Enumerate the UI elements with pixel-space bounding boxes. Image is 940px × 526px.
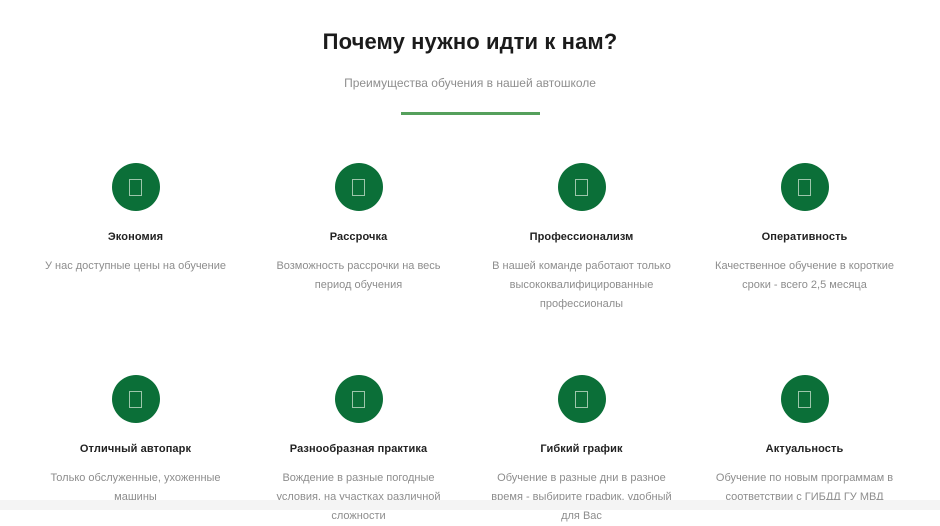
card-title: Экономия bbox=[38, 211, 233, 244]
card-icon-wrap bbox=[484, 163, 679, 211]
card-text: Вождение в разные погодные условия, на у… bbox=[261, 456, 456, 526]
page-title: Почему нужно идти к нам? bbox=[0, 28, 940, 56]
card-icon-wrap bbox=[484, 375, 679, 423]
advantage-card: Рассрочка Возможность рассрочки на весь … bbox=[247, 163, 470, 314]
section-header: Почему нужно идти к нам? Преимущества об… bbox=[0, 28, 940, 115]
card-icon-wrap bbox=[707, 163, 902, 211]
missing-glyph-box-icon bbox=[129, 391, 142, 408]
advantages-grid: Экономия У нас доступные цены на обучени… bbox=[0, 163, 940, 526]
icon-circle bbox=[112, 163, 160, 211]
missing-glyph-box-icon bbox=[798, 179, 811, 196]
card-icon-wrap bbox=[38, 163, 233, 211]
card-icon-wrap bbox=[38, 375, 233, 423]
advantage-card: Профессионализм В нашей команде работают… bbox=[470, 163, 693, 314]
icon-circle bbox=[335, 163, 383, 211]
missing-glyph-box-icon bbox=[575, 391, 588, 408]
card-title: Актуальность bbox=[707, 423, 902, 456]
card-icon-wrap bbox=[261, 163, 456, 211]
title-divider bbox=[401, 112, 540, 115]
card-text: Обучение в разные дни в разное время - в… bbox=[484, 456, 679, 526]
card-title: Рассрочка bbox=[261, 211, 456, 244]
icon-circle bbox=[781, 163, 829, 211]
section-subtitle: Преимущества обучения в нашей автошколе bbox=[0, 56, 940, 91]
missing-glyph-box-icon bbox=[352, 391, 365, 408]
card-icon-wrap bbox=[261, 375, 456, 423]
missing-glyph-box-icon bbox=[798, 391, 811, 408]
card-text: В нашей команде работают только высококв… bbox=[484, 244, 679, 314]
icon-circle bbox=[112, 375, 160, 423]
icon-circle bbox=[558, 163, 606, 211]
icon-circle bbox=[335, 375, 383, 423]
icon-circle bbox=[558, 375, 606, 423]
card-text: У нас доступные цены на обучение bbox=[38, 244, 233, 276]
advantage-card: Оперативность Качественное обучение в ко… bbox=[693, 163, 916, 314]
missing-glyph-box-icon bbox=[129, 179, 142, 196]
missing-glyph-box-icon bbox=[352, 179, 365, 196]
card-title: Профессионализм bbox=[484, 211, 679, 244]
card-icon-wrap bbox=[707, 375, 902, 423]
card-title: Оперативность bbox=[707, 211, 902, 244]
card-text: Возможность рассрочки на весь период обу… bbox=[261, 244, 456, 295]
card-text: Качественное обучение в короткие сроки -… bbox=[707, 244, 902, 295]
page-bottom-band bbox=[0, 500, 940, 510]
card-title: Гибкий график bbox=[484, 423, 679, 456]
card-title: Разнообразная практика bbox=[261, 423, 456, 456]
missing-glyph-box-icon bbox=[575, 179, 588, 196]
advantage-card: Экономия У нас доступные цены на обучени… bbox=[24, 163, 247, 314]
advantages-section: Почему нужно идти к нам? Преимущества об… bbox=[0, 0, 940, 500]
card-title: Отличный автопарк bbox=[38, 423, 233, 456]
icon-circle bbox=[781, 375, 829, 423]
